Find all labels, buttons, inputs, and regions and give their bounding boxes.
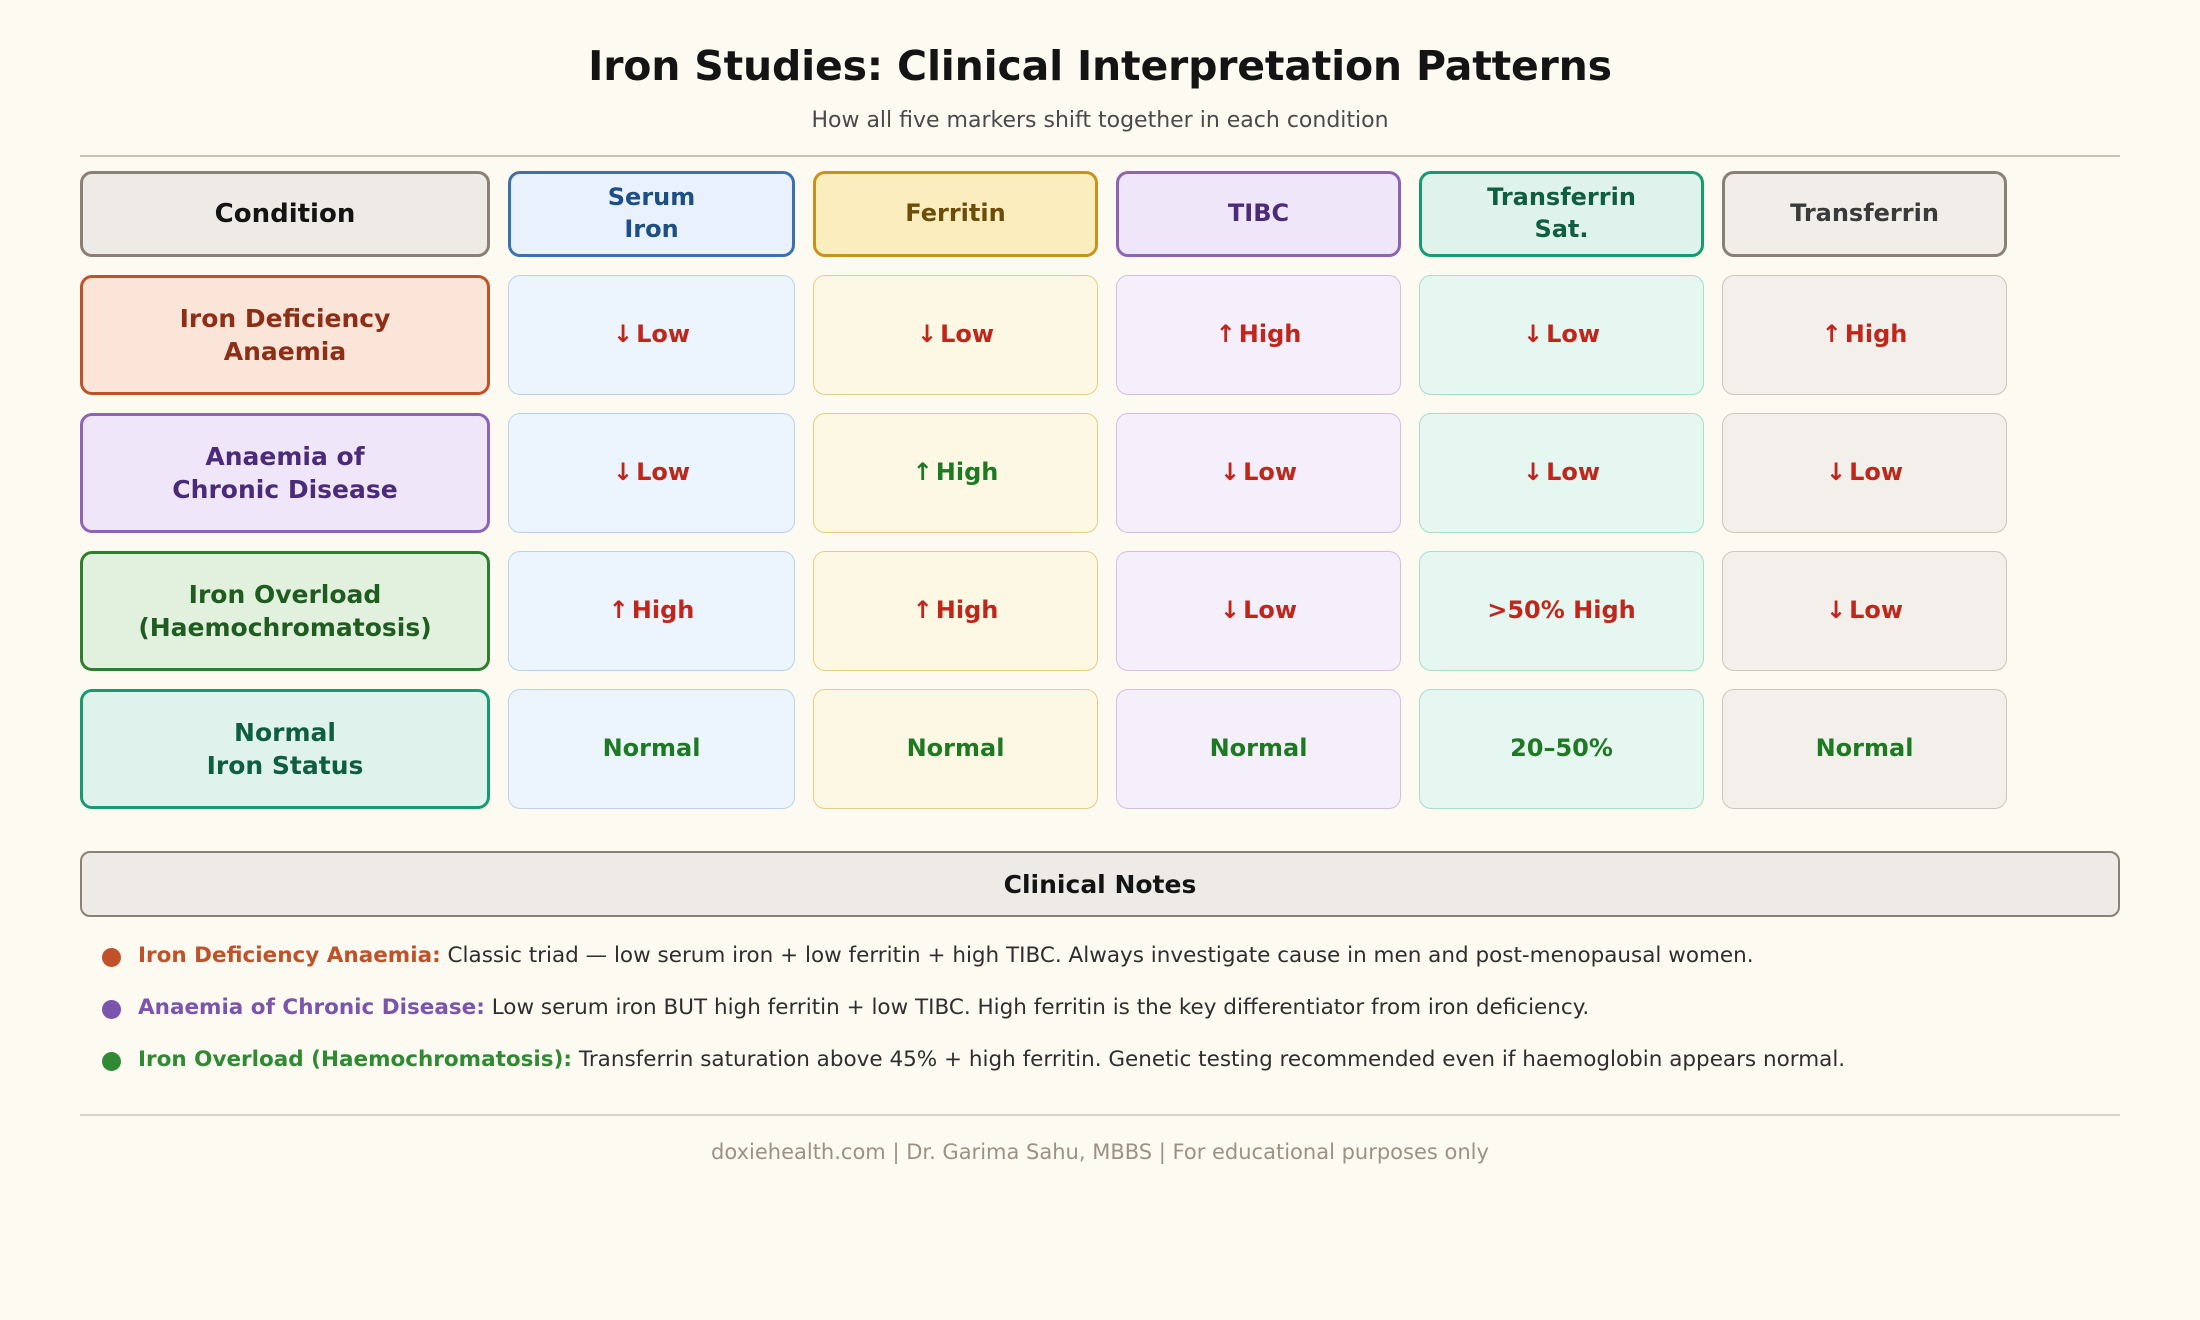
header-divider <box>80 155 2120 157</box>
arrow-up-icon: ↑ <box>913 596 933 624</box>
cell-normal-iron-status-ferritin: Normal <box>813 689 1098 809</box>
cell-value: ↑High <box>1822 319 1908 351</box>
cell-value: ↓Low <box>1220 457 1297 489</box>
note-text: Iron Deficiency Anaemia: Classic triad —… <box>138 943 1754 970</box>
arrow-down-icon: ↓ <box>1220 458 1240 486</box>
cell-value-text: Normal <box>907 734 1005 762</box>
cell-value-text: Low <box>636 458 690 486</box>
arrow-up-icon: ↑ <box>913 458 933 486</box>
cell-value-text: High <box>936 596 999 624</box>
cell-iron-deficiency-anaemia-transferrin: ↑High <box>1722 275 2007 395</box>
cell-value-text: >50% High <box>1487 596 1636 624</box>
cell-value-text: Low <box>940 320 994 348</box>
cell-value-text: Low <box>1546 320 1600 348</box>
clinical-notes-section: Clinical Notes Iron Deficiency Anaemia: … <box>80 851 2120 1074</box>
arrow-up-icon: ↑ <box>1822 320 1842 348</box>
bullet-dot-icon <box>102 948 121 967</box>
cell-value-text: High <box>1239 320 1302 348</box>
column-header-transferrin: Transferrin <box>1722 171 2007 257</box>
clinical-notes-header: Clinical Notes <box>80 851 2120 917</box>
note-text: Anaemia of Chronic Disease: Low serum ir… <box>138 995 1589 1022</box>
column-header-transferrin-sat: TransferrinSat. <box>1419 171 1704 257</box>
cell-iron-overload-haemochromatosis-ferritin: ↑High <box>813 551 1098 671</box>
cell-iron-overload-haemochromatosis-transferrin-sat: >50% High <box>1419 551 1704 671</box>
cell-iron-overload-haemochromatosis-tibc: ↓Low <box>1116 551 1401 671</box>
row-label-iron-overload-haemochromatosis: Iron Overload(Haemochromatosis) <box>80 551 490 671</box>
bullet-dot-icon <box>102 1000 121 1019</box>
row-label-iron-deficiency-anaemia: Iron DeficiencyAnaemia <box>80 275 490 395</box>
cell-value: ↓Low <box>1523 319 1600 351</box>
cell-value: ↓Low <box>613 457 690 489</box>
arrow-down-icon: ↓ <box>1826 596 1846 624</box>
page-title: Iron Studies: Clinical Interpretation Pa… <box>80 42 2120 90</box>
cell-value-text: High <box>632 596 695 624</box>
column-header-tibc: TIBC <box>1116 171 1401 257</box>
cell-normal-iron-status-transferrin-sat: 20–50% <box>1419 689 1704 809</box>
cell-value: ↓Low <box>1523 457 1600 489</box>
arrow-up-icon: ↑ <box>609 596 629 624</box>
arrow-down-icon: ↓ <box>1826 458 1846 486</box>
bullet-dot-icon <box>102 1052 121 1071</box>
cell-value: ↓Low <box>1826 457 1903 489</box>
note-label: Iron Deficiency Anaemia: <box>138 943 441 968</box>
cell-value: Normal <box>1210 733 1308 765</box>
cell-value: ↑High <box>1216 319 1302 351</box>
note-item-anaemia-of-chronic-disease: Anaemia of Chronic Disease: Low serum ir… <box>102 995 2120 1022</box>
cell-value-text: Normal <box>603 734 701 762</box>
cell-iron-deficiency-anaemia-ferritin: ↓Low <box>813 275 1098 395</box>
cell-normal-iron-status-serum-iron: Normal <box>508 689 795 809</box>
cell-iron-deficiency-anaemia-serum-iron: ↓Low <box>508 275 795 395</box>
arrow-down-icon: ↓ <box>613 320 633 348</box>
cell-anaemia-of-chronic-disease-transferrin: ↓Low <box>1722 413 2007 533</box>
cell-normal-iron-status-transferrin: Normal <box>1722 689 2007 809</box>
cell-value: 20–50% <box>1510 733 1613 765</box>
column-header-ferritin: Ferritin <box>813 171 1098 257</box>
page-subtitle: How all five markers shift together in e… <box>80 108 2120 133</box>
cell-iron-overload-haemochromatosis-serum-iron: ↑High <box>508 551 795 671</box>
cell-value: ↓Low <box>1220 595 1297 627</box>
note-body: Classic triad — low serum iron + low fer… <box>441 943 1754 968</box>
cell-normal-iron-status-tibc: Normal <box>1116 689 1401 809</box>
note-text: Iron Overload (Haemochromatosis): Transf… <box>138 1047 1845 1074</box>
cell-value: Normal <box>1816 733 1914 765</box>
cell-anaemia-of-chronic-disease-serum-iron: ↓Low <box>508 413 795 533</box>
cell-anaemia-of-chronic-disease-tibc: ↓Low <box>1116 413 1401 533</box>
cell-value-text: Low <box>1243 458 1297 486</box>
footer-text: doxiehealth.com | Dr. Garima Sahu, MBBS … <box>80 1116 2120 1164</box>
cell-anaemia-of-chronic-disease-ferritin: ↑High <box>813 413 1098 533</box>
cell-iron-overload-haemochromatosis-transferrin: ↓Low <box>1722 551 2007 671</box>
cell-value: ↓Low <box>1826 595 1903 627</box>
cell-value-text: Low <box>1849 458 1903 486</box>
note-item-iron-deficiency-anaemia: Iron Deficiency Anaemia: Classic triad —… <box>102 943 2120 970</box>
cell-value: >50% High <box>1487 595 1636 627</box>
row-label-anaemia-of-chronic-disease: Anaemia ofChronic Disease <box>80 413 490 533</box>
arrow-down-icon: ↓ <box>613 458 633 486</box>
cell-iron-deficiency-anaemia-tibc: ↑High <box>1116 275 1401 395</box>
note-item-iron-overload-haemochromatosis: Iron Overload (Haemochromatosis): Transf… <box>102 1047 2120 1074</box>
column-header-condition: Condition <box>80 171 490 257</box>
cell-value-text: Low <box>1849 596 1903 624</box>
note-body: Transferrin saturation above 45% + high … <box>572 1047 1845 1072</box>
cell-value-text: Low <box>636 320 690 348</box>
note-label: Anaemia of Chronic Disease: <box>138 995 485 1020</box>
cell-anaemia-of-chronic-disease-transferrin-sat: ↓Low <box>1419 413 1704 533</box>
cell-value: ↓Low <box>613 319 690 351</box>
cell-iron-deficiency-anaemia-transferrin-sat: ↓Low <box>1419 275 1704 395</box>
column-header-serum-iron: SerumIron <box>508 171 795 257</box>
cell-value: ↓Low <box>917 319 994 351</box>
cell-value: ↑High <box>913 595 999 627</box>
cell-value: ↑High <box>913 457 999 489</box>
arrow-down-icon: ↓ <box>1523 458 1543 486</box>
arrow-up-icon: ↑ <box>1216 320 1236 348</box>
cell-value-text: Low <box>1546 458 1600 486</box>
cell-value-text: Low <box>1243 596 1297 624</box>
page-root: Iron Studies: Clinical Interpretation Pa… <box>0 0 2200 1320</box>
note-label: Iron Overload (Haemochromatosis): <box>138 1047 572 1072</box>
cell-value: Normal <box>603 733 701 765</box>
cell-value: ↑High <box>609 595 695 627</box>
cell-value-text: 20–50% <box>1510 734 1613 762</box>
arrow-down-icon: ↓ <box>1523 320 1543 348</box>
cell-value-text: Normal <box>1210 734 1308 762</box>
interpretation-matrix: ConditionSerumIronFerritinTIBCTransferri… <box>80 171 2120 809</box>
arrow-down-icon: ↓ <box>917 320 937 348</box>
cell-value-text: High <box>1845 320 1908 348</box>
cell-value: Normal <box>907 733 1005 765</box>
arrow-down-icon: ↓ <box>1220 596 1240 624</box>
cell-value-text: High <box>936 458 999 486</box>
cell-value-text: Normal <box>1816 734 1914 762</box>
row-label-normal-iron-status: NormalIron Status <box>80 689 490 809</box>
clinical-notes-list: Iron Deficiency Anaemia: Classic triad —… <box>80 943 2120 1074</box>
note-body: Low serum iron BUT high ferritin + low T… <box>485 995 1589 1020</box>
